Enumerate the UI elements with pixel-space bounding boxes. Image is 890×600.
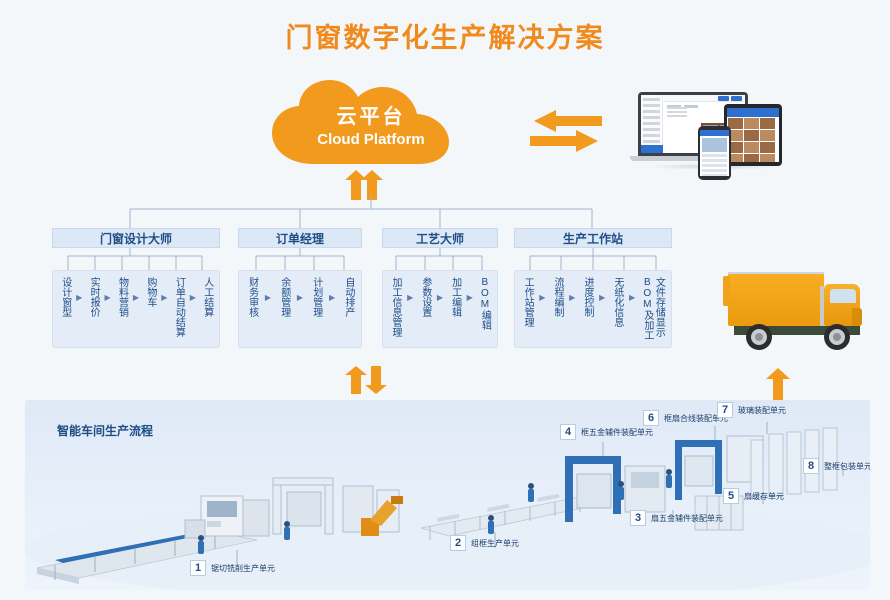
module-item[interactable]: 实时报价	[88, 277, 100, 317]
unit-callout-1[interactable]: 1 锯切铣削生产单元	[190, 560, 275, 576]
flow-arrow-icon: ▶	[75, 293, 83, 302]
flow-arrow-icon: ▶	[160, 293, 168, 302]
unit-label: 整框包装单元	[824, 461, 870, 472]
module-item[interactable]: 人工结算	[201, 277, 213, 317]
flow-arrow-icon: ▶	[436, 293, 444, 302]
tablet-screen	[727, 108, 779, 162]
phone-content	[700, 136, 729, 176]
delivery-truck	[712, 262, 872, 367]
phone-device	[698, 126, 731, 180]
flow-arrow-icon: ▶	[328, 293, 336, 302]
unit-label: 扇缓存单元	[744, 491, 784, 502]
group-items: 设计窗型 ▶ 实时报价 ▶ 物料营销 ▶ 购物车 ▶ 订单自动结算 ▶ 人工结算	[52, 270, 220, 348]
unit-label: 锯切铣削生产单元	[211, 563, 275, 574]
unit-label: 框五金辅件装配单元	[581, 427, 653, 438]
tablet-header	[727, 108, 779, 117]
unit-number: 2	[450, 535, 466, 551]
smart-workshop-panel: 智能车间生产流程	[25, 400, 870, 590]
flow-arrow-icon: ▶	[538, 293, 546, 302]
module-item[interactable]: 物料营销	[116, 277, 128, 317]
unit-callout-4[interactable]: 4 框五金辅件装配单元	[560, 424, 653, 440]
tablet-device	[724, 104, 782, 166]
devices-bidirectional-arrows	[530, 108, 602, 156]
module-group-process-master: 工艺大师 加工信息管理 ▶ 参数设置 ▶ 加工编辑 ▶ BOM编辑	[382, 228, 498, 248]
laptop-toolbar	[664, 95, 745, 102]
module-item[interactable]: 余额管理	[278, 277, 290, 317]
page-title: 门窗数字化生产解决方案	[0, 16, 890, 55]
devices-mockup	[630, 90, 805, 170]
unit-callout-6[interactable]: 6 框扇合线装配单元	[643, 410, 728, 426]
cloud-icon	[266, 78, 476, 170]
group-branch-lines	[514, 248, 672, 270]
module-item[interactable]: 订单自动结算	[173, 277, 185, 337]
laptop-sidebar-footer	[641, 145, 663, 153]
group-branch-lines	[238, 248, 362, 270]
module-item[interactable]: 计划管理	[310, 277, 322, 317]
module-item[interactable]: 财务审核	[246, 277, 258, 317]
unit-label: 玻璃装配单元	[738, 405, 786, 416]
module-item[interactable]: 工作站管理	[522, 277, 534, 327]
group-branch-lines	[382, 248, 498, 270]
unit-number: 1	[190, 560, 206, 576]
group-header[interactable]: 门窗设计大师	[52, 228, 220, 248]
module-item[interactable]: BOM及加工	[641, 277, 653, 340]
group-header[interactable]: 订单经理	[238, 228, 362, 248]
group-header[interactable]: 工艺大师	[382, 228, 498, 248]
unit-number: 6	[643, 410, 659, 426]
group-header[interactable]: 生产工作站	[514, 228, 672, 248]
truck-cargo-box	[728, 274, 824, 326]
group-branch-lines	[52, 248, 220, 270]
flow-arrow-icon: ▶	[628, 293, 636, 302]
module-item[interactable]: 加工编辑	[449, 277, 461, 317]
module-item[interactable]: 无纸化信息	[611, 277, 623, 327]
module-item[interactable]: 自动排产	[342, 277, 354, 317]
unit-number: 4	[560, 424, 576, 440]
flow-arrow-icon: ▶	[103, 293, 111, 302]
group-items: 财务审核 ▶ 余额管理 ▶ 计划管理 ▶ 自动排产	[238, 270, 362, 348]
module-item[interactable]: BOM编辑	[479, 277, 491, 330]
module-group-order-manager: 订单经理 财务审核 ▶ 余额管理 ▶ 计划管理 ▶ 自动排产	[238, 228, 362, 248]
flow-arrow-icon: ▶	[466, 293, 474, 302]
module-item[interactable]: 文件存储显示	[653, 277, 665, 340]
module-groups: 门窗设计大师 设计窗型 ▶ 实时报价 ▶ 物料营销 ▶ 购物车 ▶ 订单自动结算…	[52, 228, 672, 358]
unit-callout-7[interactable]: 7 玻璃装配单元	[717, 402, 786, 418]
unit-callout-2[interactable]: 2 组框生产单元	[450, 535, 519, 551]
module-item[interactable]: 设计窗型	[59, 277, 71, 317]
module-item[interactable]: 购物车	[144, 277, 156, 307]
flow-arrow-icon: ▶	[132, 293, 140, 302]
laptop-text-lines	[667, 107, 687, 119]
unit-label: 组框生产单元	[471, 538, 519, 549]
unit-number: 8	[803, 458, 819, 474]
truck-rear-wheel	[746, 324, 772, 350]
unit-number: 7	[717, 402, 733, 418]
module-item-group-document: BOM及加工 文件存储显示	[641, 277, 664, 340]
tablet-product-grid	[727, 117, 779, 162]
unit-callout-8[interactable]: 8 整框包装单元	[803, 458, 870, 474]
unit-number: 5	[723, 488, 739, 504]
flow-arrow-icon: ▶	[189, 293, 197, 302]
flow-arrow-icon: ▶	[568, 293, 576, 302]
module-item[interactable]: 进度控制	[581, 277, 593, 317]
module-item[interactable]: 流程编制	[552, 277, 564, 317]
group-items: 工作站管理 ▶ 流程编制 ▶ 进度控制 ▶ 无纸化信息 ▶ BOM及加工 文件存…	[514, 270, 672, 348]
unit-callout-5[interactable]: 5 扇缓存单元	[723, 488, 784, 504]
truck-up-arrow	[765, 368, 791, 400]
truck-windshield	[830, 289, 856, 303]
module-item[interactable]: 加工信息管理	[390, 277, 402, 337]
flow-arrow-icon: ▶	[296, 293, 304, 302]
truck-rear-fin	[723, 276, 730, 306]
phone-screen	[700, 130, 729, 176]
unit-callout-3[interactable]: 3 扇五金辅件装配单元	[630, 510, 723, 526]
flow-arrow-icon: ▶	[598, 293, 606, 302]
truck-front-grill	[852, 308, 862, 326]
group-items: 加工信息管理 ▶ 参数设置 ▶ 加工编辑 ▶ BOM编辑	[382, 270, 498, 348]
module-group-design-master: 门窗设计大师 设计窗型 ▶ 实时报价 ▶ 物料营销 ▶ 购物车 ▶ 订单自动结算…	[52, 228, 220, 248]
cloud-platform-node: 云平台 Cloud Platform	[266, 78, 476, 170]
solution-diagram-page: 门窗数字化生产解决方案 云平台 Cloud Platform	[0, 0, 890, 600]
module-item[interactable]: 参数设置	[419, 277, 431, 317]
module-group-production-workstation: 生产工作站 工作站管理 ▶ 流程编制 ▶ 进度控制 ▶ 无纸化信息 ▶ BOM及…	[514, 228, 672, 248]
flow-arrow-icon: ▶	[264, 293, 272, 302]
factory-bidirectional-arrows	[345, 366, 391, 394]
unit-number: 3	[630, 510, 646, 526]
flow-arrow-icon: ▶	[406, 293, 414, 302]
truck-front-wheel	[824, 324, 850, 350]
unit-label: 扇五金辅件装配单元	[651, 513, 723, 524]
